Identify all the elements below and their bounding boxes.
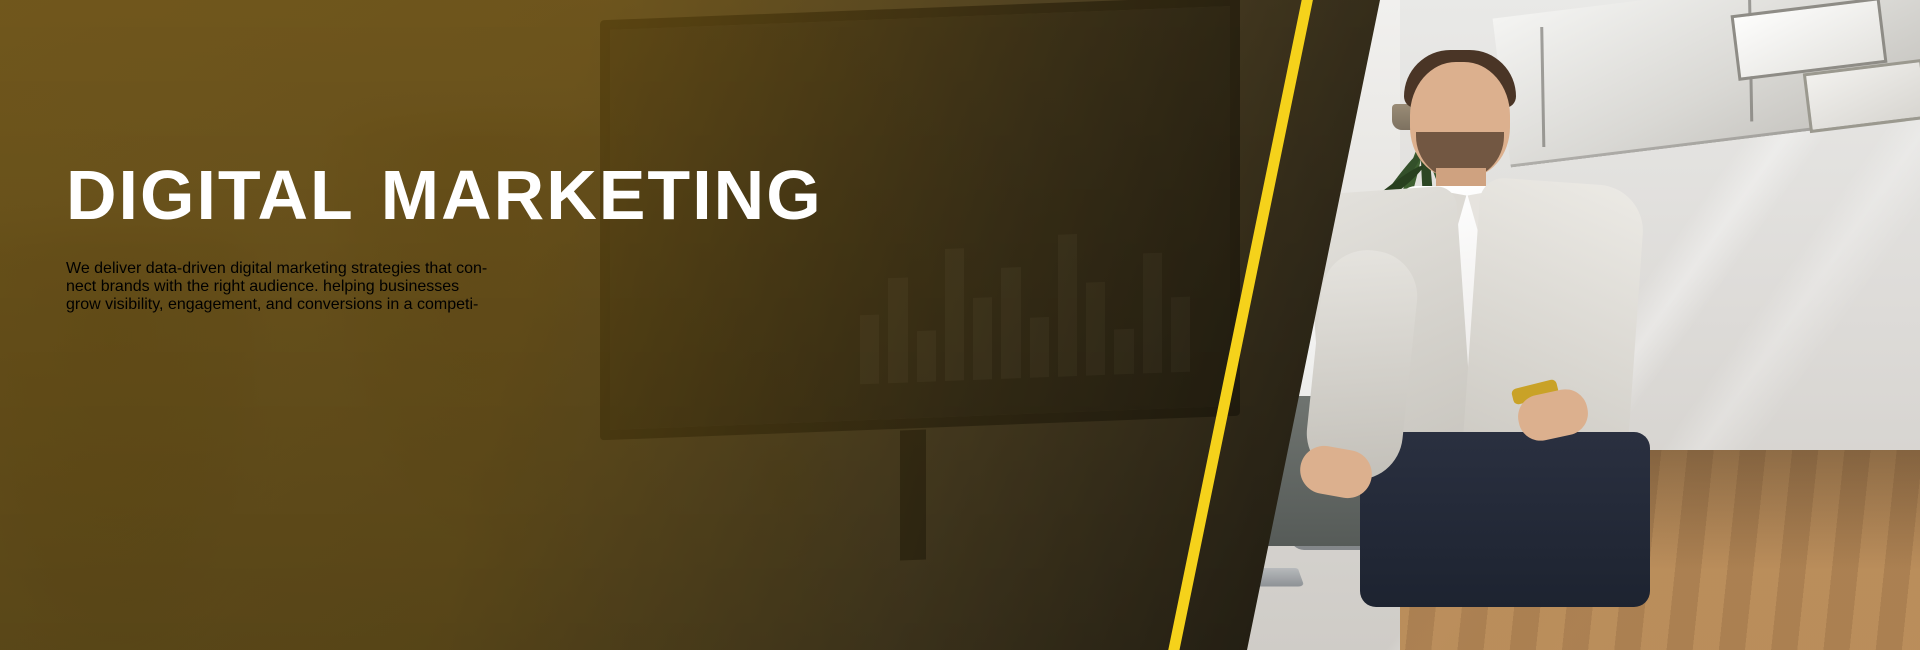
headline-word-marketing: MARKETING [381, 156, 823, 234]
hero-description-line-1: We deliver data-driven digital marketing… [66, 260, 966, 278]
gold-tint-overlay-secondary [0, 0, 1400, 650]
hero-text-block: DIGITALMARKETING We deliver data-driven … [66, 160, 966, 314]
hero-description-line-2: nect brands with the right audience. hel… [66, 278, 966, 296]
hero-description-line-3: grow visibility, engagement, and convers… [66, 296, 966, 314]
hero-banner: DIGITALMARKETING We deliver data-driven … [0, 0, 1920, 650]
headline-word-digital: DIGITAL [66, 156, 355, 234]
gold-overlay-panel [0, 0, 1400, 650]
page-title: DIGITALMARKETING [66, 160, 966, 230]
